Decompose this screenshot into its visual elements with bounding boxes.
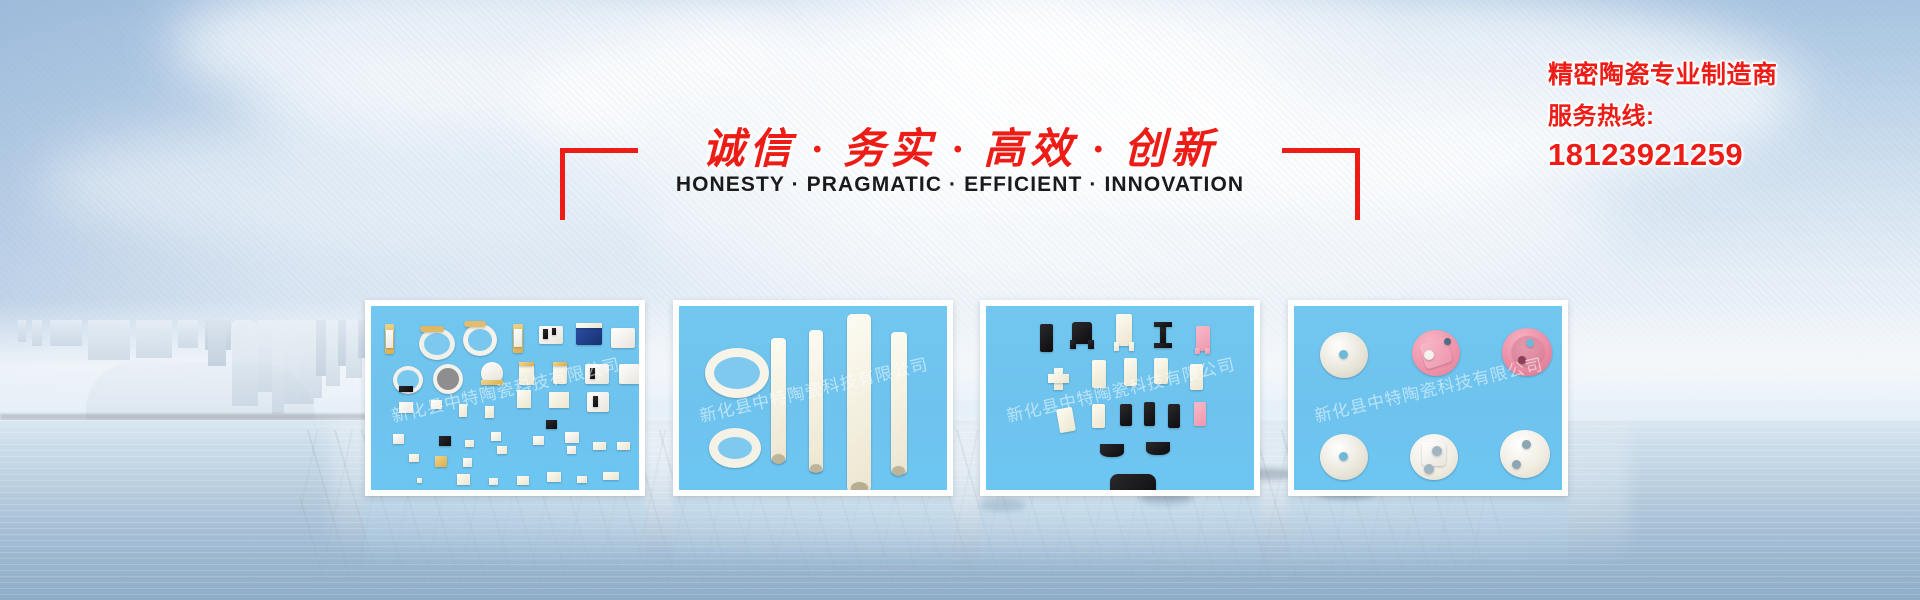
bracket-bottom-right-horizontal — [1282, 148, 1360, 153]
product-panel-ceramic-tubes[interactable]: 新化县中特陶瓷科技有限公司 — [673, 300, 953, 496]
slogan-block: 诚信 · 务实 · 高效 · 创新 HONESTY · PRAGMATIC · … — [560, 115, 1360, 220]
bracket-top-left-vertical — [560, 148, 565, 220]
product-panel-ceramic-discs[interactable]: 新化县中特陶瓷科技有限公司 — [1288, 300, 1568, 496]
hotline-phone-number[interactable]: 18123921259 — [1548, 136, 1848, 174]
contact-block: 精密陶瓷专业制造商 服务热线: 18123921259 — [1548, 58, 1848, 174]
product-panel-ceramic-blocks[interactable]: 新化县中特陶瓷科技有限公司 — [980, 300, 1260, 496]
panel-photo: 新化县中特陶瓷科技有限公司 — [1294, 306, 1562, 490]
bracket-bottom-right-vertical — [1355, 148, 1360, 220]
slogan-english: HONESTY · PRAGMATIC · EFFICIENT · INNOVA… — [646, 173, 1274, 197]
panel-photo: 新化县中特陶瓷科技有限公司 — [679, 306, 947, 490]
panel-reflection — [365, 500, 645, 578]
panel-reflection — [673, 500, 953, 578]
panel-reflection — [1288, 500, 1568, 578]
hero-banner: 诚信 · 务实 · 高效 · 创新 HONESTY · PRAGMATIC · … — [0, 0, 1920, 600]
panel-photo: 新化县中特陶瓷科技有限公司 — [371, 306, 639, 490]
company-tagline: 精密陶瓷专业制造商 — [1548, 58, 1848, 92]
panel-photo: 新化县中特陶瓷科技有限公司 — [986, 306, 1254, 490]
panel-reflection — [980, 500, 1260, 578]
hotline-label: 服务热线: — [1548, 98, 1848, 136]
product-gallery: 新化县中特陶瓷科技有限公司 新化县中特陶瓷科技有限公司 — [0, 300, 1920, 500]
slogan-chinese: 诚信 · 务实 · 高效 · 创新 — [646, 115, 1274, 176]
bracket-top-left-horizontal — [560, 148, 638, 153]
product-panel-smd-components[interactable]: 新化县中特陶瓷科技有限公司 — [365, 300, 645, 496]
